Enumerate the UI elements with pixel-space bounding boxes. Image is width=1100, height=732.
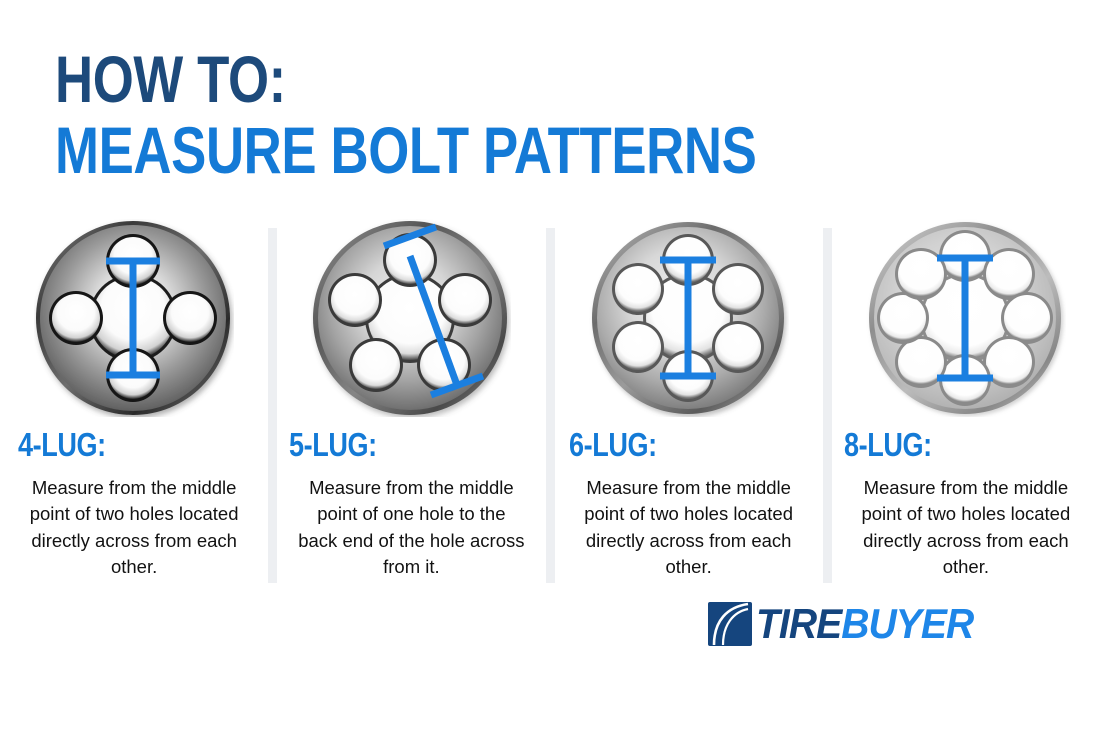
infographic-page: HOW TO: MEASURE BOLT PATTERNS bbox=[0, 0, 1100, 732]
hub-svg-5-lug bbox=[311, 219, 511, 417]
title-line-how-to: HOW TO: bbox=[55, 48, 695, 111]
lug-column-4: 4-LUG: Measure from the middle point of … bbox=[0, 218, 268, 588]
column-divider-1 bbox=[268, 228, 277, 583]
hub-svg-6-lug bbox=[589, 219, 789, 417]
lug-description-6: Measure from the middle point of two hol… bbox=[573, 475, 805, 580]
lug-column-6: 6-LUG: Measure from the middle point of … bbox=[555, 218, 823, 588]
column-divider-2 bbox=[546, 228, 555, 583]
hub-svg-4-lug bbox=[34, 219, 234, 417]
logo-wordmark: TIREBUYER bbox=[756, 603, 973, 645]
logo-text-buyer: BUYER bbox=[841, 600, 973, 647]
lug-label-8: 8-LUG: bbox=[844, 426, 932, 464]
top-spacer bbox=[0, 0, 1100, 14]
lug-description-8: Measure from the middle point of two hol… bbox=[850, 475, 1082, 580]
lug-columns: 4-LUG: Measure from the middle point of … bbox=[0, 218, 1100, 588]
hub-svg-8-lug bbox=[866, 219, 1066, 417]
lug-description-5: Measure from the middle point of one hol… bbox=[295, 475, 527, 580]
lug-label-5: 5-LUG: bbox=[289, 426, 377, 464]
tirebuyer-logo[interactable]: TIREBUYER bbox=[707, 601, 990, 647]
lug-column-8: 8-LUG: Measure from the middle point of … bbox=[832, 218, 1100, 588]
lug-label-4: 4-LUG: bbox=[18, 426, 106, 464]
lug-description-4: Measure from the middle point of two hol… bbox=[18, 475, 250, 580]
hub-illustration-8-lug bbox=[866, 218, 1066, 418]
hub-illustration-6-lug bbox=[589, 218, 789, 418]
lug-label-6: 6-LUG: bbox=[569, 426, 657, 464]
title-line-measure-bolt-patterns: MEASURE BOLT PATTERNS bbox=[55, 117, 695, 183]
hub-illustration-5-lug bbox=[311, 218, 511, 418]
lug-column-5: 5-LUG: Measure from the middle point of … bbox=[277, 218, 545, 588]
hub-illustration-4-lug bbox=[34, 218, 234, 418]
tirebuyer-swoosh-icon bbox=[707, 601, 753, 647]
page-title: HOW TO: MEASURE BOLT PATTERNS bbox=[55, 48, 855, 183]
column-divider-3 bbox=[823, 228, 832, 583]
logo-text-tire: TIRE bbox=[756, 600, 841, 647]
